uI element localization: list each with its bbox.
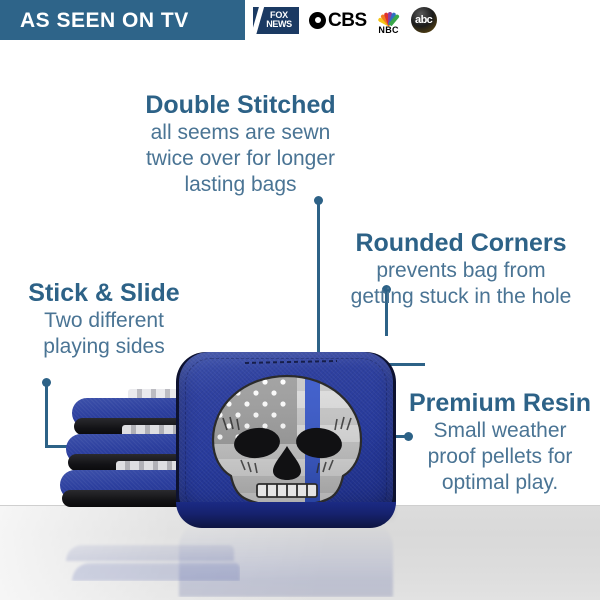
skull-flag-graphic: [201, 374, 373, 510]
skull-icon: [201, 374, 373, 510]
fox-slash-mark: [252, 6, 265, 35]
cbs-icon: CBS: [309, 11, 367, 30]
callout-double-stitched: Double Stitched all seems are sewn twice…: [108, 90, 373, 198]
skull-teeth: [257, 484, 317, 497]
main-cornhole-bag: [176, 352, 396, 527]
callout-line: Two different: [4, 308, 204, 334]
callout-rounded-corners-title: Rounded Corners: [330, 228, 592, 258]
fox-logo-line2: NEWS: [266, 20, 291, 29]
cbs-logo-label: CBS: [328, 11, 367, 30]
callout-line: prevents bag from: [330, 258, 592, 284]
abc-icon: abc: [411, 7, 437, 33]
double-stitched-connector-line: [317, 203, 320, 355]
network-logo-row: FOX NEWS CBS NBC abc: [252, 0, 437, 40]
nbc-peacock-icon: [376, 6, 402, 26]
callout-line: proof pellets for: [402, 444, 598, 470]
callout-double-stitched-title: Double Stitched: [108, 90, 373, 120]
callout-stick-and-slide-title: Stick & Slide: [4, 278, 204, 308]
callout-line: playing sides: [4, 334, 204, 360]
main-bag-face: [179, 352, 393, 520]
callout-stick-and-slide-body: Two different playing sides: [4, 308, 204, 360]
fox-news-icon: FOX NEWS: [252, 6, 300, 35]
stick-slide-connector-vertical: [45, 385, 48, 448]
callout-premium-resin-body: Small weather proof pellets for optimal …: [402, 418, 598, 496]
nbc-icon: NBC: [376, 6, 402, 35]
as-seen-on-tv-banner: AS SEEN ON TV: [0, 0, 245, 40]
main-bag-bottom-edge: [176, 502, 396, 528]
callout-rounded-corners-body: prevents bag from getting stuck in the h…: [330, 258, 592, 310]
callout-line: optimal play.: [402, 470, 598, 496]
banner-title: AS SEEN ON TV: [0, 10, 189, 31]
callout-premium-resin-title: Premium Resin: [402, 388, 598, 418]
callout-line: Small weather: [402, 418, 598, 444]
callout-premium-resin: Premium Resin Small weather proof pellet…: [402, 388, 598, 496]
callout-double-stitched-body: all seems are sewn twice over for longer…: [108, 120, 373, 198]
callout-line: lasting bags: [108, 172, 373, 198]
callout-stick-and-slide: Stick & Slide Two different playing side…: [4, 278, 204, 360]
abc-logo-label: abc: [415, 15, 432, 26]
infographic-stage: AS SEEN ON TV FOX NEWS CBS NBC abc: [0, 0, 600, 600]
callout-line: twice over for longer: [108, 146, 373, 172]
callout-rounded-corners: Rounded Corners prevents bag from gettin…: [330, 228, 592, 310]
callout-line: getting stuck in the hole: [330, 284, 592, 310]
callout-line: all seems are sewn: [108, 120, 373, 146]
cbs-eye-icon: [309, 12, 326, 29]
